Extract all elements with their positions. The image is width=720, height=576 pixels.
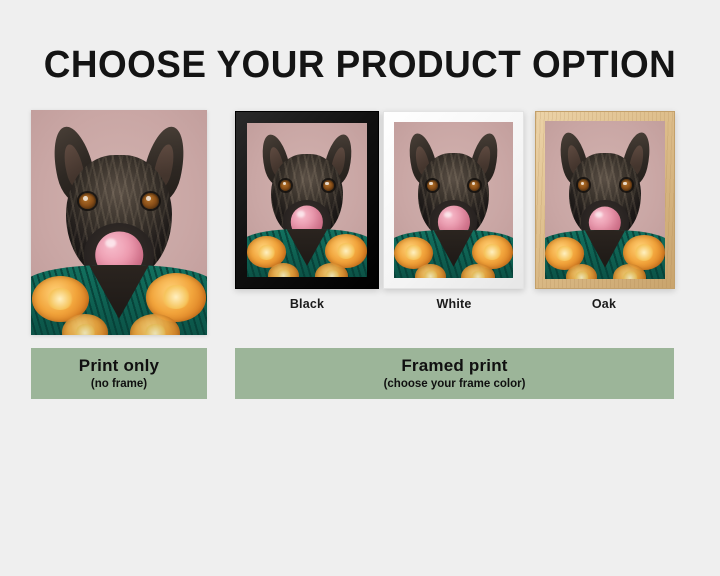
shirt-flower	[566, 264, 597, 279]
dog-eye-right	[323, 180, 334, 191]
shirt-flower	[268, 263, 299, 277]
artwork-framed-white	[394, 122, 513, 278]
artwork-print-only	[31, 110, 207, 335]
artwork-canvas	[31, 110, 207, 335]
dog-eye-left	[427, 180, 438, 191]
print-only-subtitle: (no frame)	[91, 377, 147, 391]
shirt-collar	[583, 230, 627, 268]
option-banner-print-only[interactable]: Print only (no frame)	[31, 348, 207, 399]
shirt-collar	[285, 229, 329, 266]
frame-label-oak: Oak	[529, 297, 679, 311]
frame-artwork-oak	[545, 121, 665, 279]
frame-border-black	[235, 111, 379, 289]
artwork-canvas	[247, 123, 367, 277]
shirt-collar	[87, 265, 152, 318]
frame-option-white[interactable]	[383, 111, 524, 289]
hawaiian-shirt	[31, 265, 207, 335]
frame-artwork-white	[394, 122, 513, 278]
framed-print-subtitle: (choose your frame color)	[384, 377, 526, 391]
option-banner-framed-print[interactable]: Framed print (choose your frame color)	[235, 348, 674, 399]
hawaiian-shirt	[247, 229, 367, 277]
artwork-canvas	[545, 121, 665, 279]
artwork-framed-black	[247, 123, 367, 277]
dog-eye-right	[621, 179, 632, 190]
framed-print-title: Framed print	[401, 356, 507, 376]
frame-border-oak	[535, 111, 675, 289]
frame-option-black[interactable]	[235, 111, 379, 289]
frame-label-black: Black	[232, 297, 382, 311]
artwork-framed-oak	[545, 121, 665, 279]
page-title: CHOOSE YOUR PRODUCT OPTION	[11, 44, 709, 86]
dog-eye-right	[142, 193, 159, 209]
hawaiian-shirt	[394, 230, 513, 278]
frame-border-white	[383, 111, 524, 289]
product-option-print-only-image[interactable]	[31, 110, 207, 335]
print-only-title: Print only	[79, 356, 159, 376]
shirt-collar	[432, 230, 476, 267]
hawaiian-shirt	[545, 230, 665, 279]
frame-artwork-black	[247, 123, 367, 277]
artwork-canvas	[394, 122, 513, 278]
frame-label-white: White	[379, 297, 529, 311]
frame-option-oak[interactable]	[535, 111, 675, 289]
